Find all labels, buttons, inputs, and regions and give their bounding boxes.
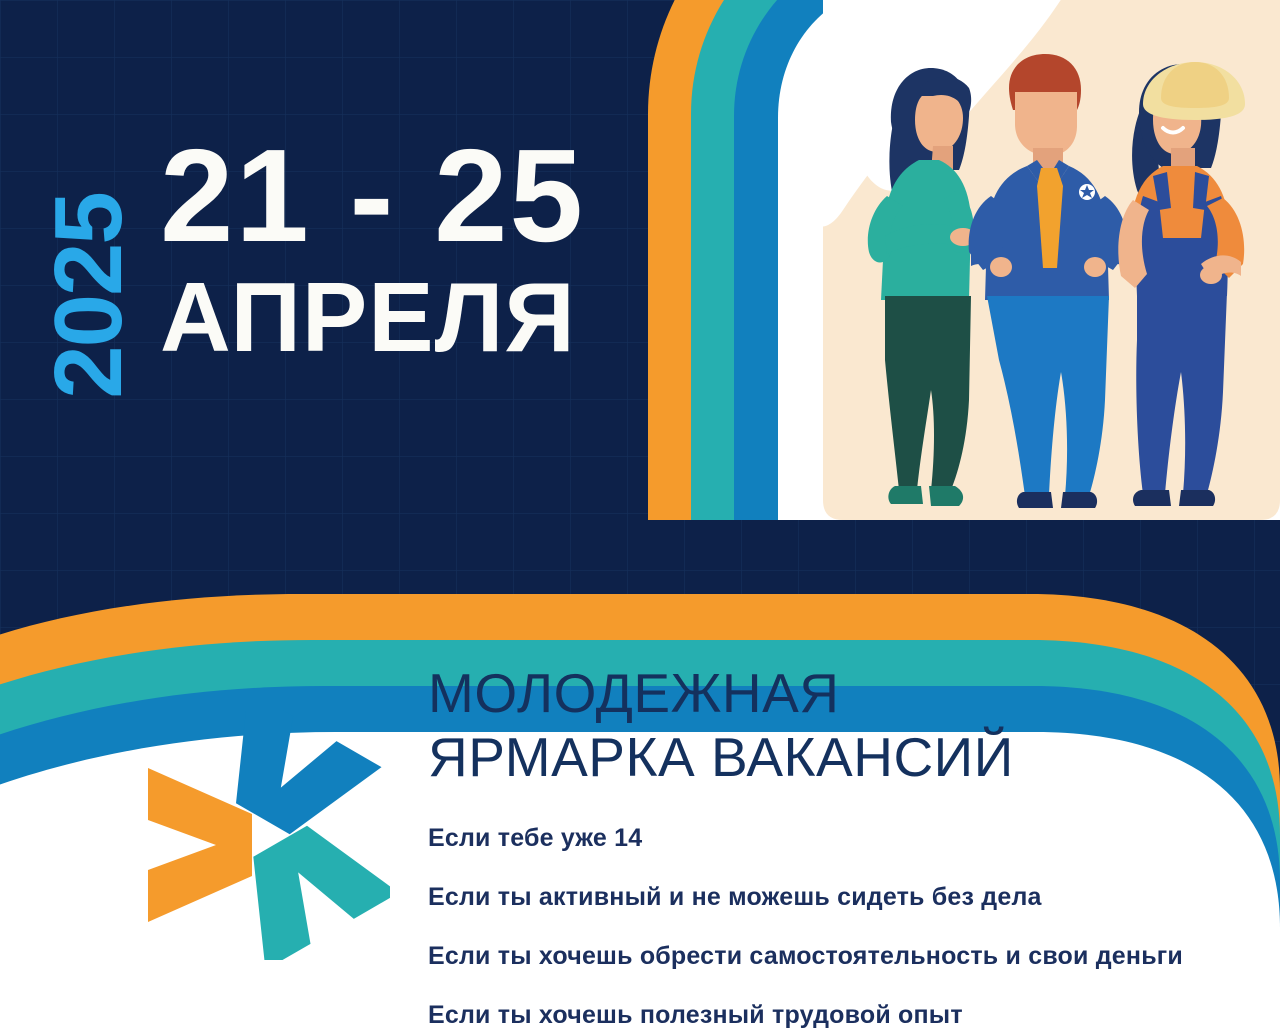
month-label: АПРЕЛЯ [160, 268, 576, 366]
year-label: 2025 [41, 171, 137, 421]
headline-line-1: МОЛОДЕЖНАЯ [428, 662, 1248, 726]
headline-line-2: ЯРМАРКА ВАКАНСИЙ [428, 726, 1248, 790]
event-date-block: 2025 21 - 25 АПРЕЛЯ [0, 108, 620, 398]
figure2-face [1015, 92, 1077, 156]
three-young-people-illustration [823, 0, 1280, 520]
figure2-hand-right [1084, 257, 1106, 277]
figure1-shoe-right [929, 486, 963, 506]
date-range-label: 21 - 25 [160, 130, 585, 262]
list-item: Если ты хочешь обрести самостоятельность… [428, 944, 1268, 969]
list-item: Если тебе уже 14 [428, 826, 1268, 851]
three-chevron-star-logo [140, 710, 390, 960]
logo-chevron-orange [148, 768, 252, 922]
figure2-shoe-right [1061, 492, 1097, 508]
list-item: Если ты активный и не можешь сидеть без … [428, 885, 1268, 910]
page-title: МОЛОДЕЖНАЯ ЯРМАРКА ВАКАНСИЙ [428, 662, 1248, 790]
figure2-badge [1079, 184, 1095, 200]
figure2-hand-left [990, 257, 1012, 277]
condition-list: Если тебе уже 14 Если ты активный и не м… [428, 826, 1268, 1028]
figure3-shoe-right [1179, 490, 1215, 506]
list-item: Если ты хочешь полезный трудовой опыт [428, 1003, 1268, 1028]
poster-canvas: 2025 21 - 25 АПРЕЛЯ МОЛОДЕЖНАЯ ЯРМАРКА В… [0, 0, 1280, 1036]
figure3-hand-right [1200, 266, 1222, 284]
figure3-shoe-left [1133, 490, 1171, 506]
figure1-shoe-left [888, 486, 923, 504]
figure2-shoe-left [1017, 492, 1053, 508]
